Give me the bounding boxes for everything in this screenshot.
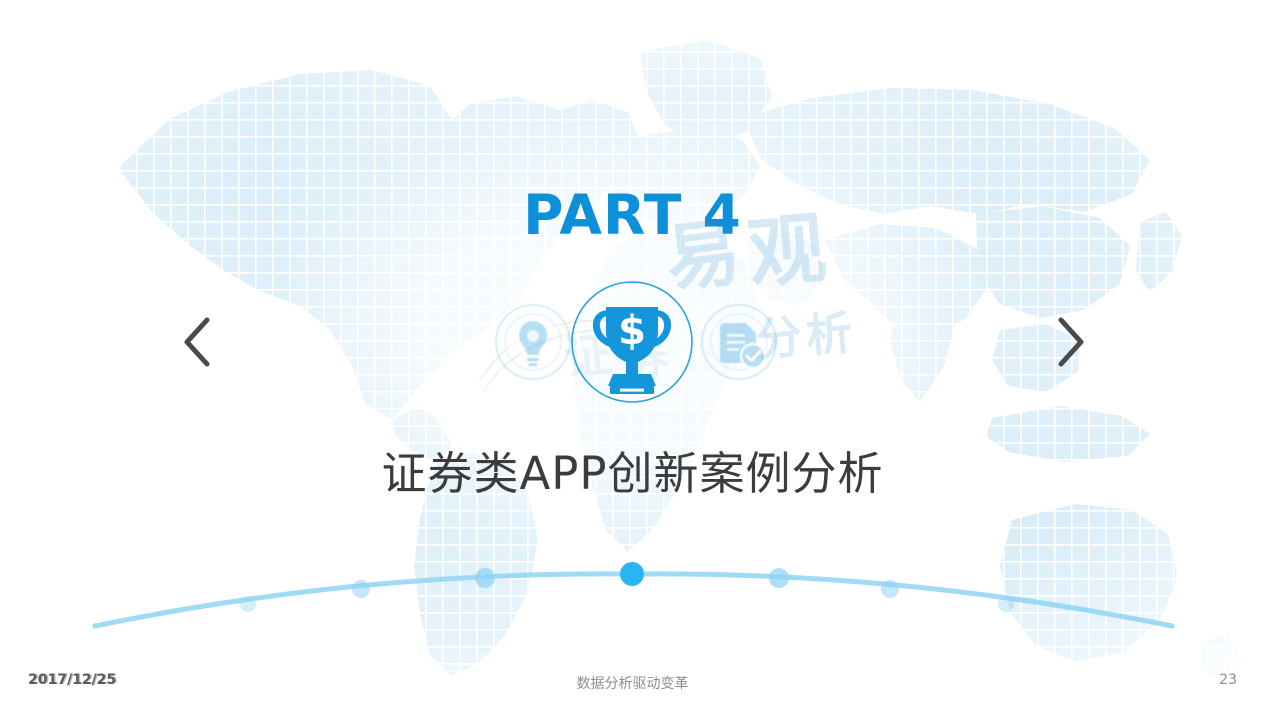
- document-check-icon[interactable]: [700, 303, 778, 381]
- prev-arrow-icon[interactable]: [176, 312, 222, 372]
- lightbulb-idea-icon[interactable]: [494, 303, 572, 381]
- slide-heading: 证券类APP创新案例分析: [0, 437, 1265, 502]
- next-arrow-icon[interactable]: [1046, 312, 1092, 372]
- svg-text:$: $: [618, 308, 646, 354]
- footer-tagline: 数据分析驱动变革: [0, 673, 1265, 693]
- slide-footer: 2017/12/25 数据分析驱动变革 23: [0, 656, 1265, 712]
- presentation-slide: 证 券 易 观 分 析 PART 4: [0, 0, 1265, 712]
- part-label: PART 4: [0, 183, 1265, 247]
- trophy-dollar-icon[interactable]: $: [570, 280, 694, 404]
- page-number: 23: [1219, 672, 1237, 688]
